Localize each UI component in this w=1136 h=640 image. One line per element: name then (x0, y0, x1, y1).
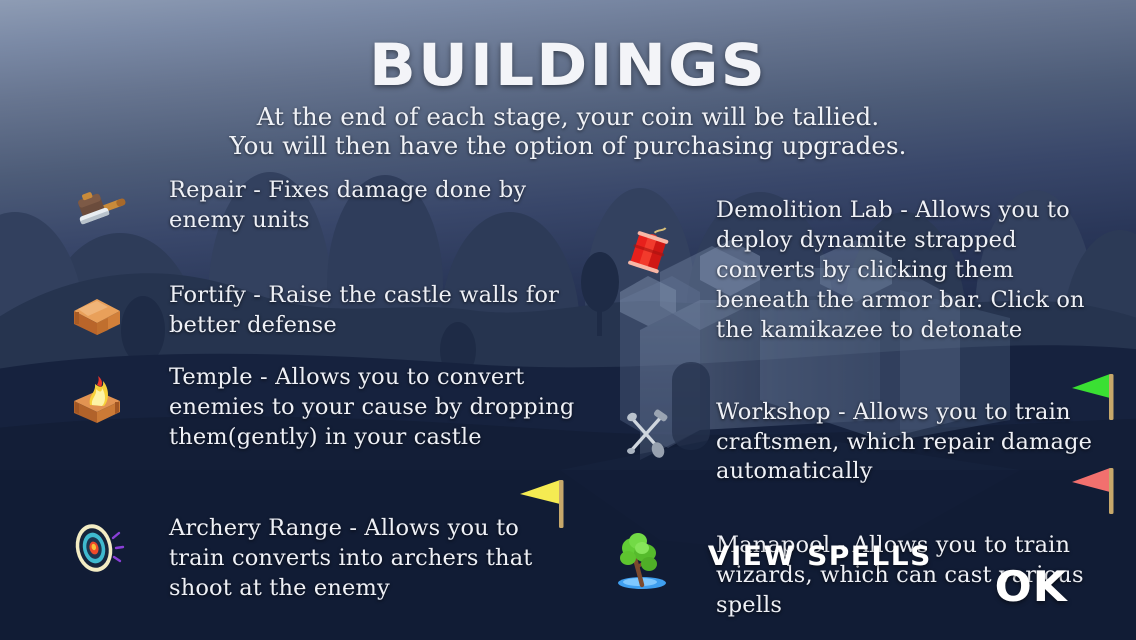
hammer-icon (68, 180, 130, 242)
list-item-text: Temple - Allows you to convert enemies t… (169, 363, 578, 453)
list-item-workshop[interactable]: Workshop - Allows you to train craftsmen… (606, 398, 1106, 488)
list-item-text: Fortify - Raise the castle walls for bet… (169, 281, 578, 341)
page-title: BUILDINGS (0, 36, 1136, 94)
view-spells-button[interactable]: VIEW SPELLS (708, 541, 932, 572)
list-item-text: Workshop - Allows you to train craftsmen… (716, 398, 1106, 488)
list-item-text: Demolition Lab - Allows you to deploy dy… (716, 196, 1106, 346)
page-subtitle: At the end of each stage, your coin will… (0, 103, 1136, 161)
green-flag-icon (1066, 366, 1136, 441)
crate-icon (66, 285, 128, 347)
header-block: BUILDINGS At the end of each stage, your… (0, 36, 1136, 161)
archery-target-icon (66, 516, 128, 578)
list-item-text: Repair - Fixes damage done by enemy unit… (169, 176, 578, 236)
tree-pool-icon (612, 531, 674, 593)
subtitle-line-1: At the end of each stage, your coin will… (0, 103, 1136, 132)
buildings-help-screen: BUILDINGS At the end of each stage, your… (0, 0, 1136, 640)
yellow-flag-icon (508, 470, 578, 545)
subtitle-line-2: You will then have the option of purchas… (0, 132, 1136, 161)
crossed-tools-icon (616, 404, 678, 466)
list-item-repair[interactable]: Repair - Fixes damage done by enemy unit… (58, 176, 578, 236)
list-item-archery-range[interactable]: Archery Range - Allows you to train conv… (58, 514, 578, 604)
ok-button[interactable]: OK (995, 562, 1068, 611)
dynamite-icon (618, 222, 680, 284)
list-item-demolition-lab[interactable]: Demolition Lab - Allows you to deploy dy… (606, 196, 1106, 346)
left-building-list: Repair - Fixes damage done by enemy unit… (58, 176, 578, 604)
list-item-temple[interactable]: Temple - Allows you to convert enemies t… (58, 363, 578, 453)
red-flag-icon (1066, 460, 1136, 535)
list-item-fortify[interactable]: Fortify - Raise the castle walls for bet… (58, 281, 578, 341)
brazier-fire-icon (66, 369, 128, 431)
